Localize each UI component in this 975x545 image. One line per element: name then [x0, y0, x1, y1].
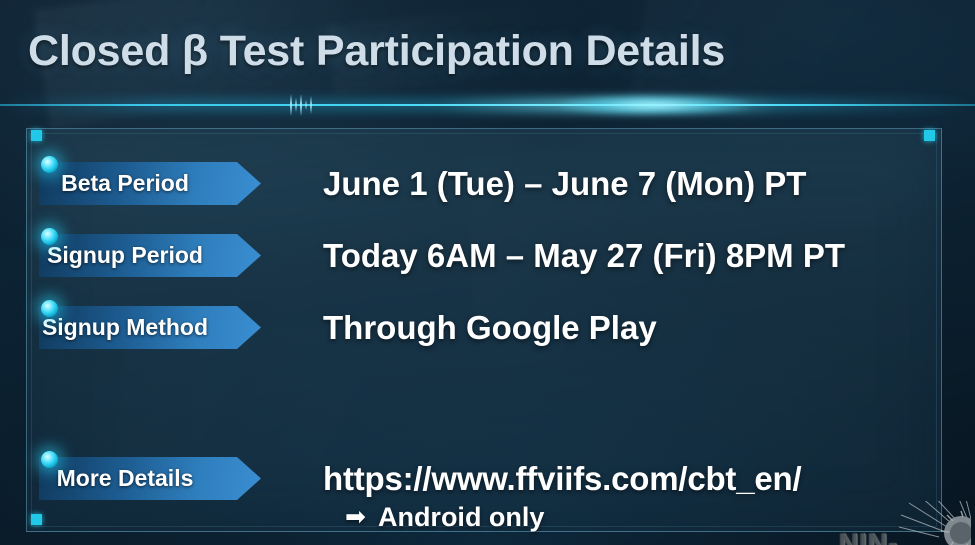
divider-beam	[0, 94, 975, 116]
row-label-banner	[39, 306, 261, 349]
beam-waveform-spike	[305, 100, 307, 110]
list-item-label: Android only	[378, 502, 544, 533]
more-details-url[interactable]: https://www.ffviifs.com/cbt_en/	[323, 457, 801, 500]
row-value-text: June 1 (Tue) – June 7 (Mon) PT	[323, 162, 806, 205]
detail-row: More Details https://www.ffviifs.com/cbt…	[27, 457, 941, 501]
beam-waveform-spike	[300, 94, 302, 116]
row-value-text: Today 6AM – May 27 (Fri) 8PM PT	[323, 234, 845, 277]
beam-glow	[0, 98, 975, 112]
row-label-banner	[39, 162, 261, 205]
beam-waveform-spike	[310, 96, 312, 114]
detail-row: Beta Period June 1 (Tue) – June 7 (Mon) …	[27, 162, 941, 206]
beam-waveform-spike	[290, 94, 292, 116]
panel-corner-top-right	[924, 130, 935, 141]
details-panel: Beta Period June 1 (Tue) – June 7 (Mon) …	[26, 128, 942, 532]
panel-corner-top-left	[31, 130, 42, 141]
panel-corner-bottom-left	[31, 514, 42, 525]
signup-method-bullets: ➡ Android only ➡ US/Canada only	[345, 497, 865, 545]
row-label-banner	[39, 234, 261, 277]
glow-dot-icon	[41, 156, 58, 173]
glow-dot-icon	[41, 228, 58, 245]
page-title: Closed β Test Participation Details	[28, 27, 725, 76]
glow-dot-icon	[41, 451, 58, 468]
beam-hotspot	[560, 95, 750, 115]
detail-row: Signup Period Today 6AM – May 27 (Fri) 8…	[27, 234, 941, 278]
right-arrow-icon: ➡	[345, 505, 366, 530]
slide-root: Closed β Test Participation Details Beta…	[0, 0, 975, 545]
row-value-text: Through Google Play	[323, 306, 657, 349]
beam-waveform-spike	[295, 98, 297, 112]
list-item: ➡ US/Canada only	[345, 538, 865, 545]
beam-core	[0, 104, 975, 106]
glow-dot-icon	[41, 300, 58, 317]
detail-row: Signup Method Through Google Play	[27, 306, 941, 350]
list-item: ➡ Android only	[345, 497, 865, 538]
row-label-banner	[39, 457, 261, 500]
